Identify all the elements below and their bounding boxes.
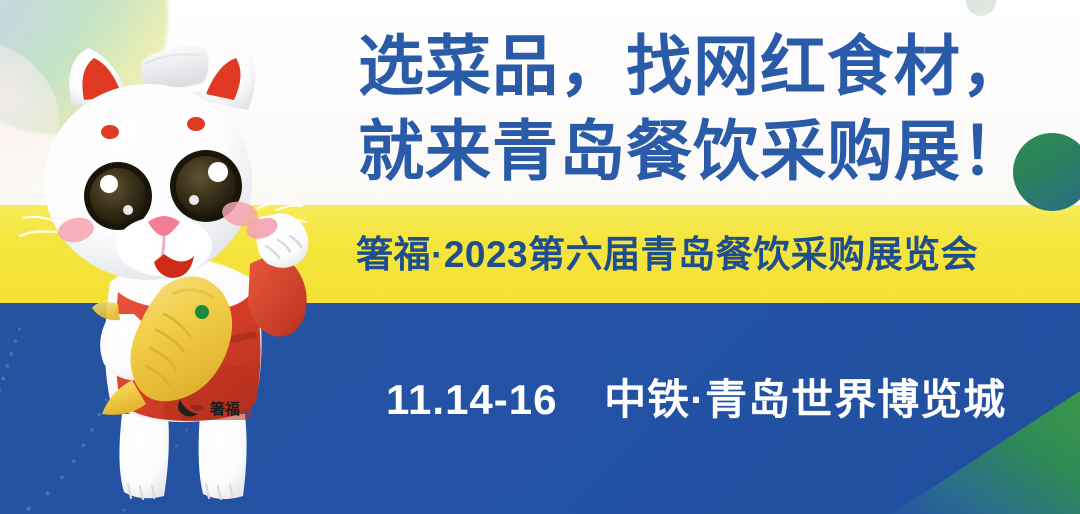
mascot-head <box>20 47 294 281</box>
subtitle: 箸福·2023第六届青岛餐饮采购展览会 <box>356 232 1080 278</box>
mascot-legs <box>119 414 246 499</box>
event-venue: 中铁·青岛世界博览城 <box>604 376 1006 423</box>
headline-line-1: 选菜品，找网红食材， <box>358 24 1058 109</box>
apron-logo-sub: ZHUFU <box>181 416 198 422</box>
date-venue-line: 11.14-16 中铁·青岛世界博览城 <box>386 374 1080 426</box>
fish-eye-icon <box>195 305 209 319</box>
mascot-cat-illustration: 箸福 ZHUFU <box>14 14 354 514</box>
headline: 选菜品，找网红食材， 就来青岛餐饮采购展！ <box>358 24 1058 194</box>
promo-banner: 箸福 ZHUFU <box>0 0 1080 514</box>
face-dot-left-icon <box>101 125 119 139</box>
face-dot-right-icon <box>187 117 205 131</box>
headline-line-2: 就来青岛餐饮采购展！ <box>358 109 1058 194</box>
event-dates: 11.14-16 <box>386 376 558 423</box>
apron-logo-text: 箸福 <box>210 400 240 418</box>
